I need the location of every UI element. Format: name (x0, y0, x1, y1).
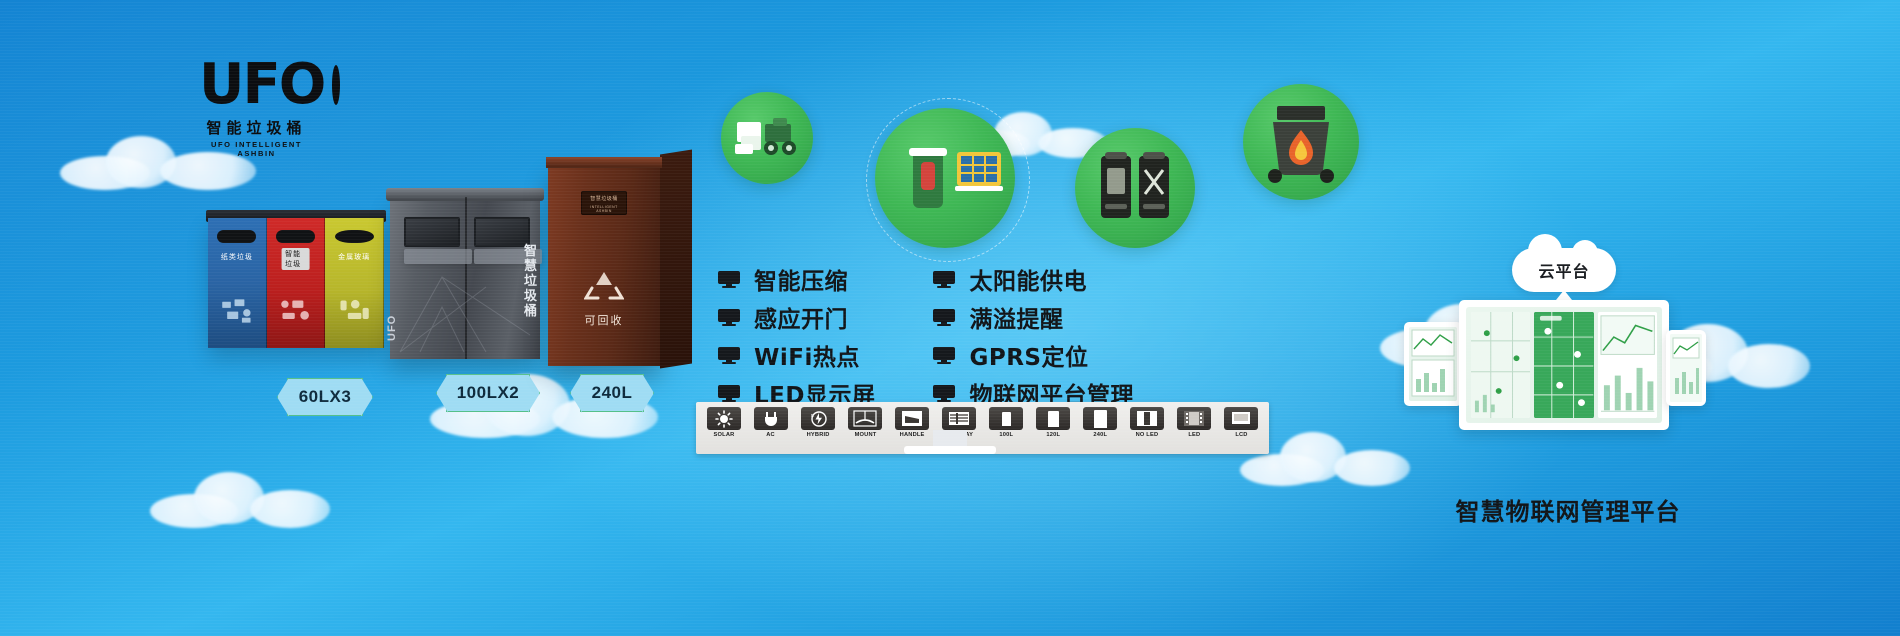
highlight-circle-1[interactable] (721, 92, 813, 184)
feature-list: 智能压缩 感应开门 WiFi热点 LED显示屏 太阳能供电 满溢提醒 (718, 264, 1134, 408)
product-bin-60lx3[interactable]: 纸类垃圾 智能垃圾 金属玻璃 (208, 218, 384, 348)
compartment-label-3: 金属玻璃 (325, 252, 383, 262)
highlight-circle-3[interactable] (1075, 128, 1195, 248)
feature-item: WiFi热点 (718, 340, 875, 370)
monitor-bullet-icon (933, 309, 955, 326)
cloud-platform-badge: 云平台 (1512, 248, 1616, 292)
logo-en-name: UFO INTELLIGENT ASHBIN (199, 140, 314, 158)
solar-panel-bin-icon (875, 108, 1015, 248)
compartment-art-2 (277, 288, 314, 334)
feature-label: 感应开门 (754, 300, 848, 334)
volume-100l-icon (989, 407, 1023, 430)
feature-item: 满溢提醒 (933, 302, 1134, 332)
monitor-stand (933, 430, 967, 446)
product-bin-100lx2[interactable]: 智慧垃圾桶 UFO (390, 197, 540, 359)
spec-item-ac[interactable]: AC (751, 407, 791, 449)
compartment-badge: 智能垃圾 (281, 248, 310, 270)
spec-item-100l[interactable]: 100L (986, 407, 1026, 449)
monitor-screen (1466, 307, 1662, 423)
bin-compartment-3: 金属玻璃 (325, 218, 384, 348)
compartment-art-1 (218, 288, 255, 334)
size-tag-100lx2: 100LX2 (446, 374, 530, 412)
volume-120l-icon (1036, 407, 1070, 430)
product-bin-240l[interactable]: 智慧垃圾桶 INTELLIGENT ASHBIN 可回收 (548, 166, 660, 366)
bin-display-screen: 智慧垃圾桶 INTELLIGENT ASHBIN (581, 191, 627, 215)
spec-label: NO LED (1136, 432, 1159, 438)
monitor-bullet-icon (718, 347, 740, 364)
bin-compartment-2: 智能垃圾 (267, 218, 326, 348)
dashboard-pane-map (1471, 312, 1530, 418)
dashboard-pane-highlight (1534, 312, 1593, 418)
logo-cn-name: 智能垃圾桶 (199, 117, 314, 138)
feature-item: 感应开门 (718, 302, 875, 332)
feature-label: WiFi热点 (754, 338, 860, 372)
spec-item-no-led[interactable]: NO LED (1127, 407, 1167, 449)
recycle-icon (584, 266, 624, 306)
size-tag-60lx3: 60LX3 (287, 378, 363, 416)
ashtray-icon (942, 407, 976, 430)
cloud-platform-label: 云平台 (1538, 258, 1589, 282)
phone-screen (1670, 334, 1702, 402)
spec-label: LCD (1235, 432, 1247, 438)
spec-item-hybrid[interactable]: n HYBRID (798, 407, 838, 449)
logo-mark-row: UFO (199, 56, 314, 114)
dual-bin-sensor-icon (1075, 128, 1195, 248)
wall-mount-icon (848, 407, 882, 430)
feature-column-right: 太阳能供电 满溢提醒 GPRS定位 物联网平台管理 (933, 264, 1134, 408)
feature-label: 满溢提醒 (969, 300, 1063, 334)
power-plug-icon (754, 407, 788, 430)
dashboard-pane-chart (1598, 312, 1657, 418)
hybrid-power-icon: n (801, 407, 835, 430)
device-tablet[interactable] (1404, 322, 1462, 406)
spec-item-lcd[interactable]: LCD (1221, 407, 1261, 449)
feature-column-left: 智能压缩 感应开门 WiFi热点 LED显示屏 (718, 264, 875, 408)
handle-icon (895, 407, 929, 430)
bin-brand-mark: UFO (386, 315, 398, 341)
bin-graphic-pattern (390, 257, 540, 357)
highlight-circle-2[interactable] (875, 108, 1015, 248)
bin-screen-subtext: INTELLIGENT ASHBIN (582, 205, 626, 213)
device-smartphone[interactable] (1666, 330, 1706, 406)
spec-label: AC (767, 432, 776, 438)
monitor-base (904, 446, 996, 454)
brand-logo: UFO 智能垃圾桶 UFO INTELLIGENT ASHBIN (199, 56, 314, 158)
bin-recycle-label: 可回收 (548, 312, 660, 328)
feature-item: 智能压缩 (718, 264, 875, 294)
cloud-decor-7 (150, 470, 330, 528)
bin-vertical-text: 智慧垃圾桶 (520, 243, 542, 318)
bin-slot-icon (335, 230, 374, 243)
garbage-truck-collection-icon (721, 92, 813, 184)
spec-label: SOLAR (714, 432, 735, 438)
led-panel-icon (1177, 407, 1211, 430)
size-tag-240l: 240L (580, 374, 644, 412)
bin-screen-text: 智慧垃圾桶 (582, 195, 626, 202)
bin-slot-icon (217, 230, 256, 243)
svg-text:n: n (811, 413, 814, 419)
logo-wordmark: UFO (199, 59, 324, 111)
highlight-circle-4[interactable] (1243, 84, 1359, 200)
device-monitor[interactable] (1459, 300, 1669, 430)
compartment-label-1: 纸类垃圾 (208, 252, 266, 262)
spec-item-handle[interactable]: HANDLE (892, 407, 932, 449)
spec-label: LED (1188, 432, 1200, 438)
spec-label: 100L (999, 432, 1013, 438)
spec-item-led[interactable]: LED (1174, 407, 1214, 449)
platform-caption: 智慧物联网管理平台 (1443, 492, 1693, 527)
feature-label: GPRS定位 (969, 338, 1088, 372)
bin-slot-icon (276, 230, 315, 243)
monitor-bullet-icon (718, 385, 740, 402)
monitor-bullet-icon (933, 385, 955, 402)
spec-label: MOUNT (854, 432, 876, 438)
sun-icon (707, 407, 741, 430)
fire-alarm-bin-icon (1243, 84, 1359, 200)
spec-item-120l[interactable]: 120L (1033, 407, 1073, 449)
bin-lid (546, 157, 662, 168)
bin-window-left (404, 217, 460, 247)
monitor-bullet-icon (933, 271, 955, 288)
feature-item: 太阳能供电 (933, 264, 1134, 294)
no-led-icon (1130, 407, 1164, 430)
bin-compartment-1: 纸类垃圾 (208, 218, 267, 348)
compartment-art-3 (336, 288, 373, 334)
spec-label: HANDLE (900, 432, 925, 438)
monitor-bullet-icon (718, 271, 740, 288)
spec-label: HYBRID (806, 432, 829, 438)
spec-item-solar[interactable]: SOLAR (704, 407, 744, 449)
spec-item-mount[interactable]: MOUNT (845, 407, 885, 449)
volume-240l-icon (1083, 407, 1117, 430)
feature-label: 智能压缩 (754, 262, 848, 296)
spec-item-240l[interactable]: 240L (1080, 407, 1120, 449)
lcd-screen-icon (1224, 407, 1258, 430)
banner-stage: UFO 智能垃圾桶 UFO INTELLIGENT ASHBIN 纸类垃圾 (0, 0, 1900, 636)
bin-side-panel (660, 149, 692, 368)
spec-label: 240L (1093, 432, 1107, 438)
monitor-bullet-icon (933, 347, 955, 364)
spec-label: 120L (1046, 432, 1060, 438)
feature-item: GPRS定位 (933, 340, 1134, 370)
feature-label: 太阳能供电 (969, 262, 1087, 296)
tablet-screen (1409, 327, 1457, 401)
monitor-bullet-icon (718, 309, 740, 326)
